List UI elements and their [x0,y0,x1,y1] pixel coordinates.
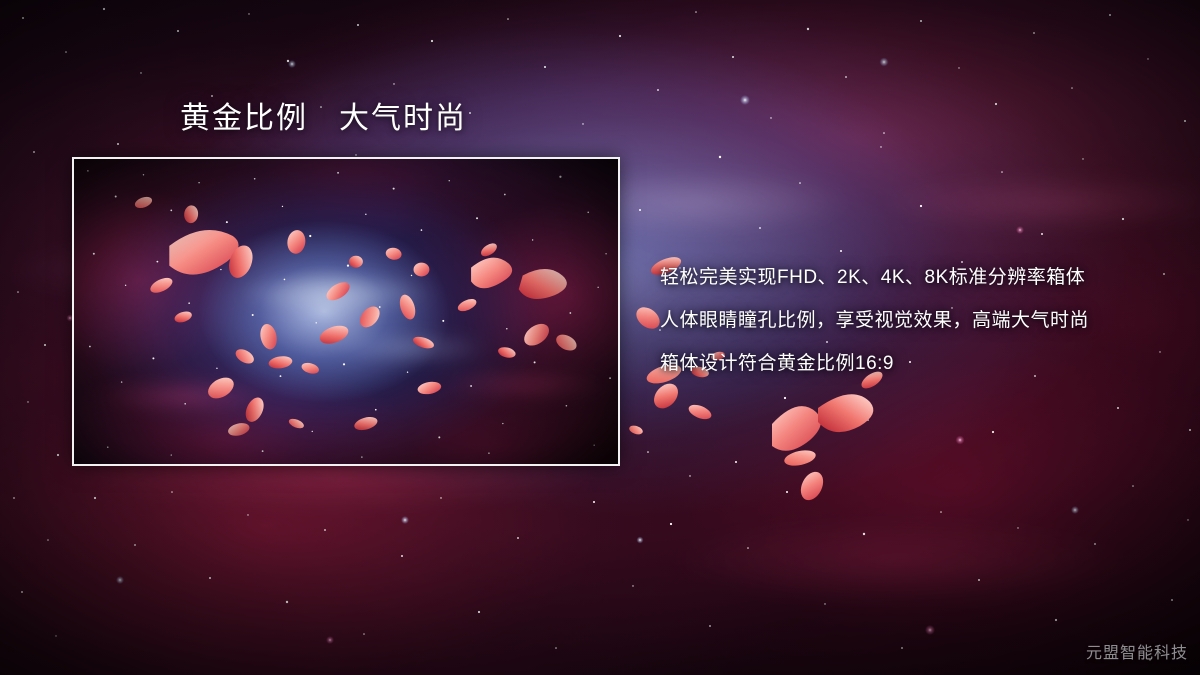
presentation-slide: 黄金比例 大气时尚 轻松完美实现FHD、2K、4K、8K标准分辨率箱体 人体眼睛… [0,0,1200,675]
preview-image-panel[interactable] [72,157,620,466]
page-title: 黄金比例 大气时尚 [180,101,467,137]
body-line-1: 轻松完美实现FHD、2K、4K、8K标准分辨率箱体 [660,256,1160,299]
panel-vignette [74,159,618,464]
watermark: 元盟智能科技 [1086,639,1188,663]
body-copy-block: 轻松完美实现FHD、2K、4K、8K标准分辨率箱体 人体眼睛瞳孔比例，享受视觉效… [660,256,1160,385]
body-line-3: 箱体设计符合黄金比例16:9 [660,342,1160,385]
body-line-2: 人体眼睛瞳孔比例，享受视觉效果，高端大气时尚 [660,299,1160,342]
